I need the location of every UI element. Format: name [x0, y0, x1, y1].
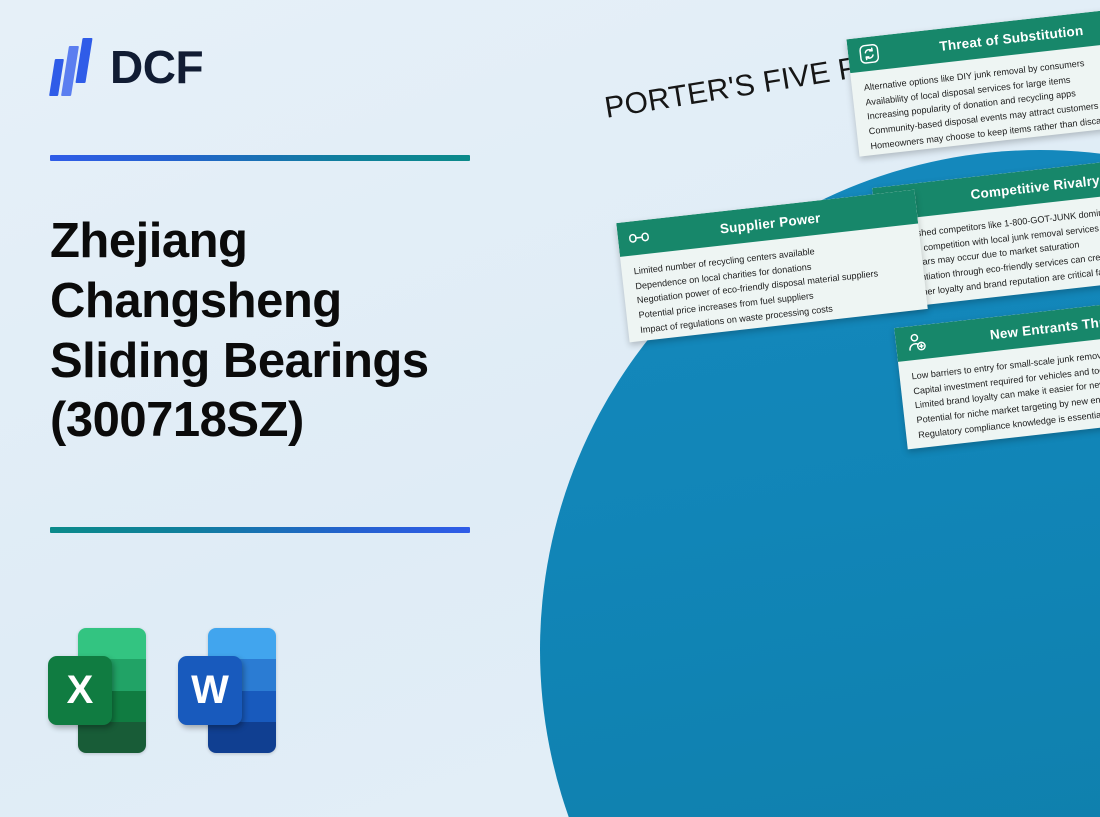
porters-five-forces-diagram: PORTER'S FIVE FORCES ANALYSIS Threat of …: [500, 0, 1100, 817]
left-info-panel: DCF Zhejiang Changsheng Sliding Bearings…: [0, 0, 520, 817]
page-root: DCF Zhejiang Changsheng Sliding Bearings…: [0, 0, 1100, 817]
download-formats: X W: [48, 628, 276, 753]
dcf-bars-logo-icon: [50, 38, 96, 96]
refresh-sync-icon: [857, 42, 881, 66]
word-letter: W: [178, 656, 242, 725]
user-add-icon: [905, 330, 929, 354]
divider-top: [50, 155, 470, 161]
force-card-threat-of-substitution[interactable]: Threat of Substitution Alternative optio…: [846, 3, 1100, 156]
excel-letter: X: [48, 656, 112, 725]
brand-name: DCF: [110, 44, 203, 90]
word-file-icon[interactable]: W: [178, 628, 276, 753]
page-title: Zhejiang Changsheng Sliding Bearings (30…: [50, 212, 495, 451]
logo-bar-3: [75, 38, 92, 83]
dcf-logo[interactable]: DCF: [50, 38, 203, 96]
link-chain-icon: [627, 225, 651, 249]
excel-file-icon[interactable]: X: [48, 628, 146, 753]
divider-bottom: [50, 527, 470, 533]
